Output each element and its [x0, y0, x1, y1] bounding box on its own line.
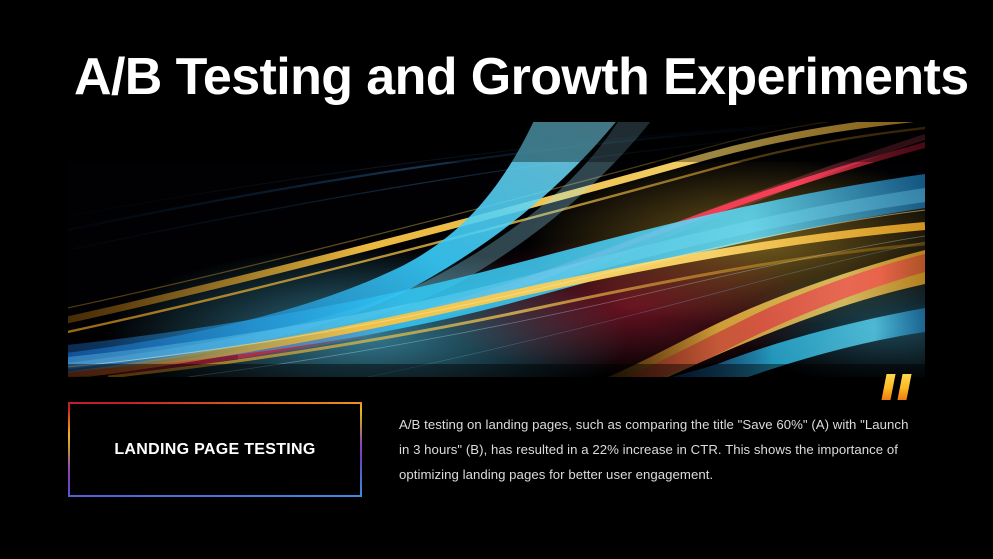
- hero-image-artwork: [68, 122, 925, 377]
- page-title: A/B Testing and Growth Experiments: [74, 46, 924, 108]
- landing-page-testing-card[interactable]: LANDING PAGE TESTING: [68, 402, 362, 497]
- slide: A/B Testing and Growth Experiments: [0, 0, 993, 559]
- body-paragraph: A/B testing on landing pages, such as co…: [399, 412, 917, 487]
- card-label: LANDING PAGE TESTING: [114, 441, 315, 459]
- card-inner: LANDING PAGE TESTING: [70, 404, 360, 495]
- hero-image: [68, 122, 925, 377]
- quote-mark-icon: [883, 374, 917, 400]
